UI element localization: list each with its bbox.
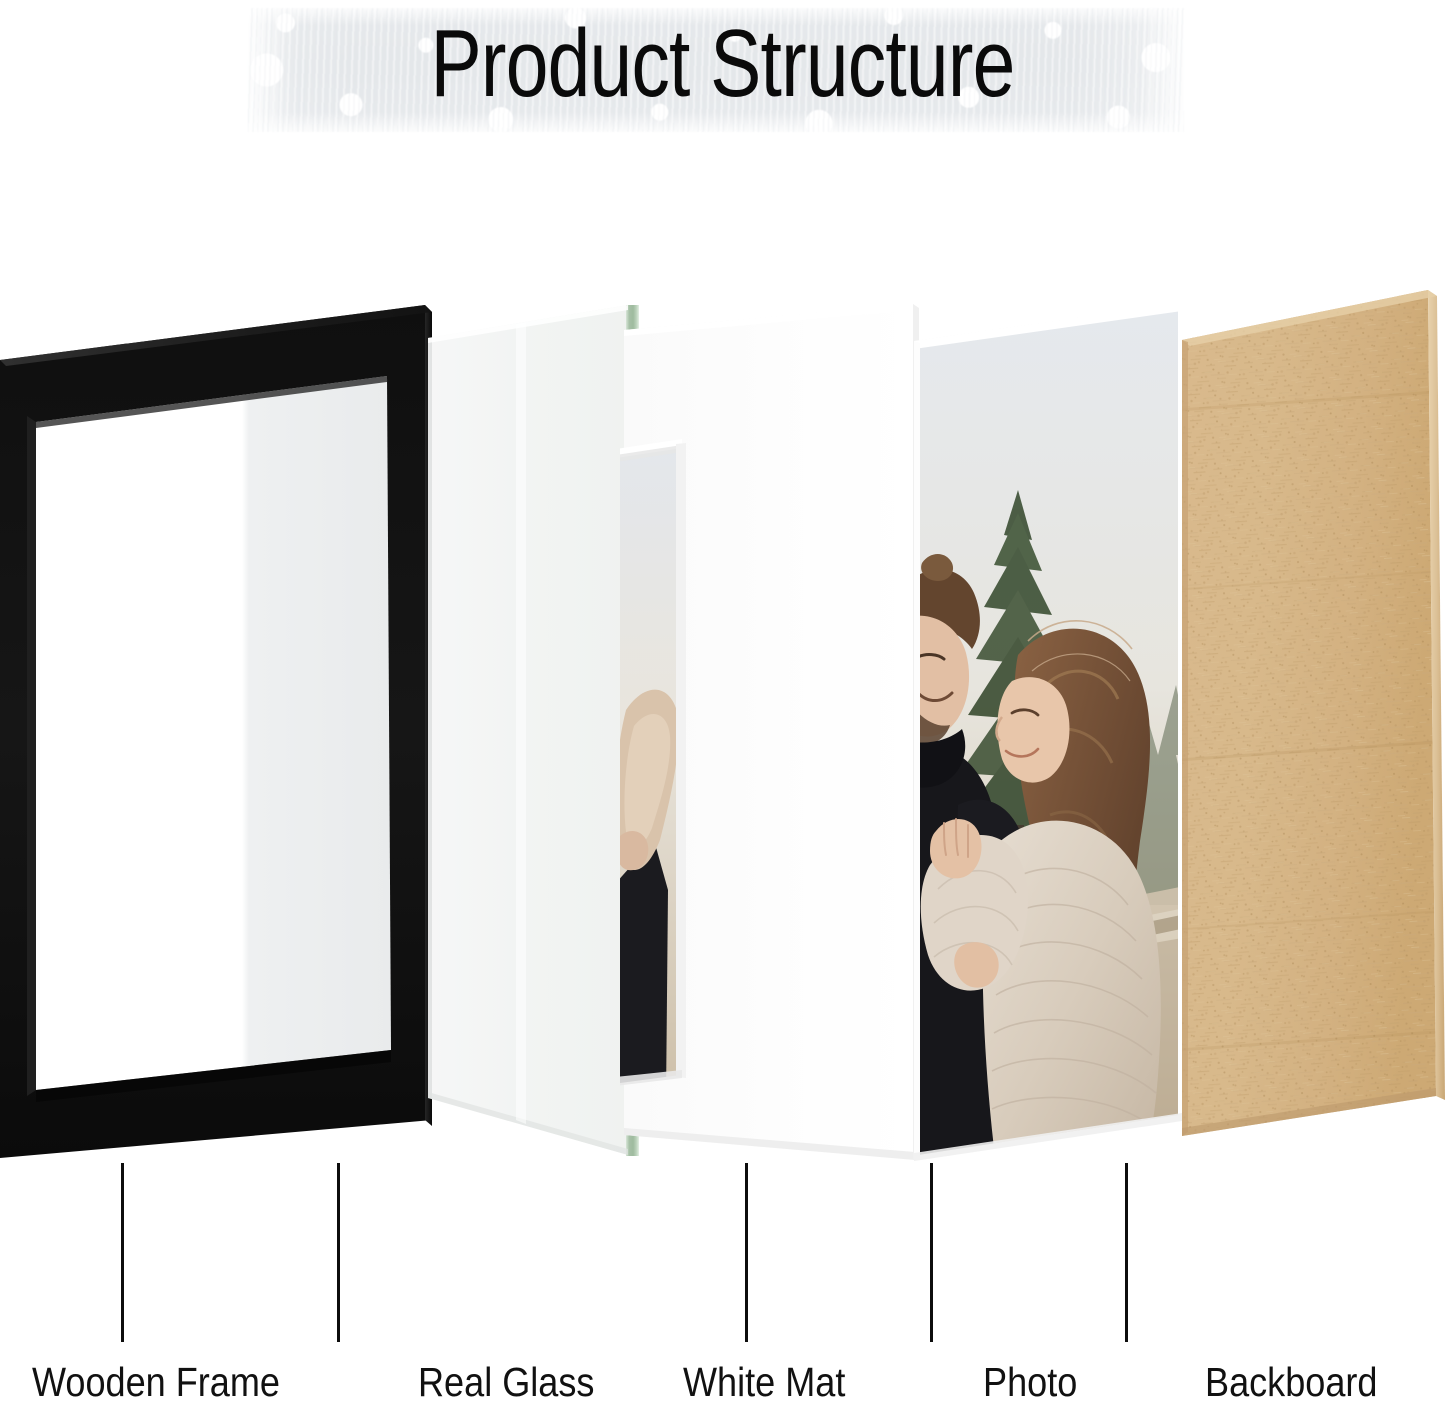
layer-white-mat — [620, 280, 930, 1180]
photo-graphic — [900, 285, 1200, 1185]
leader-line-white-mat — [745, 1163, 748, 1342]
wooden-frame-graphic — [0, 290, 432, 1170]
backboard-graphic — [1160, 280, 1445, 1180]
leader-line-wooden-frame — [121, 1163, 124, 1342]
layer-backboard — [1160, 280, 1445, 1180]
label-real-glass: Real Glass — [418, 1360, 594, 1405]
label-photo: Photo — [983, 1360, 1077, 1405]
label-backboard: Backboard — [1205, 1360, 1377, 1405]
layer-photo — [900, 285, 1200, 1185]
leader-line-real-glass — [337, 1163, 340, 1342]
label-wooden-frame: Wooden Frame — [32, 1360, 280, 1405]
white-mat-graphic — [620, 280, 930, 1180]
label-white-mat: White Mat — [683, 1360, 845, 1405]
glass-pane — [428, 305, 628, 1155]
woman-face — [997, 677, 1069, 782]
frame-window-opening — [36, 376, 391, 1090]
layer-wooden-frame — [0, 290, 432, 1170]
layer-label-row: Wooden Frame Real Glass White Mat Photo … — [0, 1360, 1445, 1420]
leader-line-photo — [930, 1163, 933, 1342]
exploded-diagram — [0, 0, 1445, 1419]
leader-line-backboard — [1125, 1163, 1128, 1342]
